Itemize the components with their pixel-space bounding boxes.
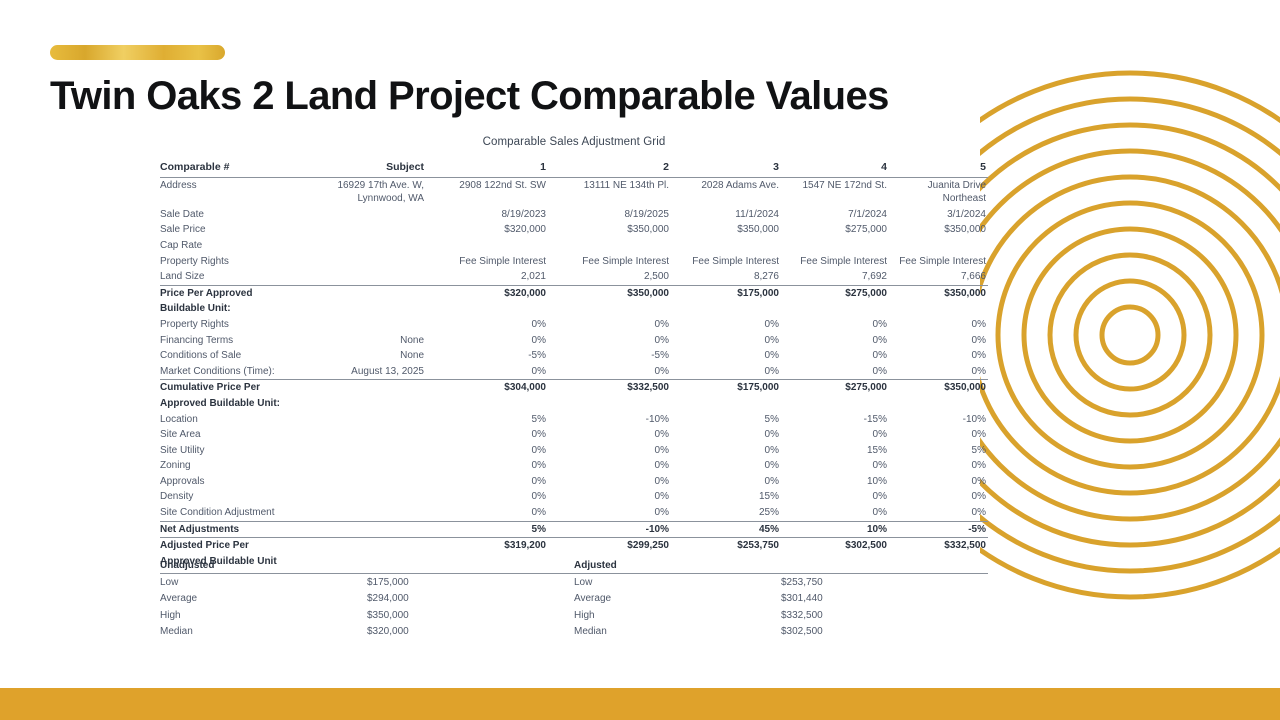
column-header-subject: Subject <box>308 160 426 177</box>
row-value-1: 8/19/2023 <box>426 207 548 223</box>
concentric-rings-graphic <box>980 35 1280 635</box>
table-row: Zoning 0% 0% 0% 0% 0% <box>160 458 988 474</box>
row-value-5: $350,000 <box>889 285 988 301</box>
row-value-5: 0% <box>889 333 988 349</box>
row-label: Adjusted Price Per <box>160 538 308 554</box>
stat-value: $253,750 <box>781 574 988 591</box>
row-value-5: 0% <box>889 427 988 443</box>
row-value-subject <box>308 254 426 270</box>
table-row: Cap Rate <box>160 238 988 254</box>
net-adjustments-row: Net Adjustments 5% -10% 45% 10% -5% <box>160 521 988 538</box>
row-value-3: 2028 Adams Ave. <box>671 177 781 207</box>
row-value-2: 0% <box>548 317 671 333</box>
row-label: Sale Price <box>160 222 308 238</box>
row-value-3: 0% <box>671 364 781 380</box>
row-label: Zoning <box>160 458 308 474</box>
row-value-1: 0% <box>426 317 548 333</box>
row-value-subject <box>308 269 426 285</box>
spacer-cell <box>426 396 548 412</box>
row-value-5: 0% <box>889 505 988 521</box>
row-value-4: $275,000 <box>781 285 889 301</box>
table-header-row: Comparable # Subject 1 2 3 4 5 <box>160 160 988 177</box>
row-value-4: 7/1/2024 <box>781 207 889 223</box>
cumulative-price-row: Cumulative Price Per $304,000 $332,500 $… <box>160 380 988 396</box>
list-item: Average $301,440 <box>574 591 988 608</box>
row-value-5: -10% <box>889 412 988 428</box>
spacer-cell <box>889 301 988 317</box>
row-value-3: 0% <box>671 474 781 490</box>
row-value-3: $175,000 <box>671 285 781 301</box>
row-value-3: 0% <box>671 333 781 349</box>
row-label-line2: Approved Buildable Unit: <box>160 396 308 412</box>
row-value-subject <box>308 427 426 443</box>
row-value-4: 0% <box>781 333 889 349</box>
stat-label: Median <box>160 624 367 641</box>
table-row: Site Utility 0% 0% 0% 15% 5% <box>160 443 988 459</box>
row-label: Address <box>160 177 308 207</box>
list-item: Average $294,000 <box>160 591 574 608</box>
row-value-2: $299,250 <box>548 538 671 554</box>
row-value-3: 15% <box>671 489 781 505</box>
row-value-subject <box>308 222 426 238</box>
row-value-1: Fee Simple Interest <box>426 254 548 270</box>
row-value-2: 0% <box>548 427 671 443</box>
row-value-4: 0% <box>781 364 889 380</box>
row-value-3: 8,276 <box>671 269 781 285</box>
row-value-subject <box>308 238 426 254</box>
row-label-line2: Buildable Unit: <box>160 301 308 317</box>
row-value-5: -5% <box>889 521 988 538</box>
spacer-cell <box>671 301 781 317</box>
grid-title: Comparable Sales Adjustment Grid <box>160 136 988 148</box>
adjustment-grid-table: Comparable # Subject 1 2 3 4 5 Address 1… <box>160 160 988 569</box>
stat-value: $294,000 <box>367 591 574 608</box>
table-row: Sale Date 8/19/2023 8/19/2025 11/1/2024 … <box>160 207 988 223</box>
row-value-5 <box>889 238 988 254</box>
row-value-2: -10% <box>548 412 671 428</box>
address-line-1: 2908 122nd St. SW <box>426 179 546 193</box>
row-value-1: 5% <box>426 521 548 538</box>
row-value-2: -10% <box>548 521 671 538</box>
stat-label: High <box>574 607 781 624</box>
table-row: Market Conditions (Time): August 13, 202… <box>160 364 988 380</box>
row-value-2: 0% <box>548 505 671 521</box>
row-value-5: 5% <box>889 443 988 459</box>
column-header-label: Comparable # <box>160 160 308 177</box>
row-value-1: 0% <box>426 427 548 443</box>
stat-label: Low <box>574 574 781 591</box>
stat-value: $175,000 <box>367 574 574 591</box>
row-label: Financing Terms <box>160 333 308 349</box>
row-label: Site Condition Adjustment <box>160 505 308 521</box>
row-value-subject <box>308 489 426 505</box>
stat-label: Low <box>160 574 367 591</box>
row-value-5: $350,000 <box>889 222 988 238</box>
row-value-4: 10% <box>781 474 889 490</box>
address-line-1: 2028 Adams Ave. <box>671 179 779 193</box>
stat-value: $302,500 <box>781 624 988 641</box>
row-value-1: 0% <box>426 364 548 380</box>
adjusted-heading: Adjusted <box>574 560 988 574</box>
column-header-2: 2 <box>548 160 671 177</box>
stat-value: $301,440 <box>781 591 988 608</box>
row-value-5: Fee Simple Interest <box>889 254 988 270</box>
adjusted-price-row: Adjusted Price Per $319,200 $299,250 $25… <box>160 538 988 554</box>
row-label: Cumulative Price Per <box>160 380 308 396</box>
row-label: Site Utility <box>160 443 308 459</box>
row-label: Location <box>160 412 308 428</box>
row-value-1: 0% <box>426 458 548 474</box>
page-title: Twin Oaks 2 Land Project Comparable Valu… <box>50 74 889 119</box>
row-value-2: 0% <box>548 458 671 474</box>
row-value-subject <box>308 207 426 223</box>
address-line-2: Lynnwood, WA <box>308 192 424 206</box>
table-row: Approvals 0% 0% 0% 10% 0% <box>160 474 988 490</box>
row-value-1: 5% <box>426 412 548 428</box>
row-label: Property Rights <box>160 254 308 270</box>
row-value-1 <box>426 238 548 254</box>
row-value-4: 0% <box>781 505 889 521</box>
row-label: Site Area <box>160 427 308 443</box>
row-label: Price Per Approved <box>160 285 308 301</box>
price-per-approved-row: Price Per Approved $320,000 $350,000 $17… <box>160 285 988 301</box>
table-row: Financing Terms None 0% 0% 0% 0% 0% <box>160 333 988 349</box>
column-header-3: 3 <box>671 160 781 177</box>
list-item: Low $175,000 <box>160 574 574 591</box>
row-value-2: 2,500 <box>548 269 671 285</box>
value-summary: Unadjusted Low $175,000 Average $294,000… <box>160 560 988 640</box>
row-value-3: 0% <box>671 443 781 459</box>
row-value-3: 45% <box>671 521 781 538</box>
address-line-1: 16929 17th Ave. W, <box>308 179 424 193</box>
row-value-5: $350,000 <box>889 380 988 396</box>
row-value-subject: None <box>308 348 426 364</box>
row-value-4: 7,692 <box>781 269 889 285</box>
stat-label: Average <box>160 591 367 608</box>
row-value-2: 0% <box>548 443 671 459</box>
table-row: Land Size 2,021 2,500 8,276 7,692 7,666 <box>160 269 988 285</box>
row-value-1: $304,000 <box>426 380 548 396</box>
row-value-1: 2908 122nd St. SW <box>426 177 548 207</box>
row-label: Property Rights <box>160 317 308 333</box>
list-item: High $332,500 <box>574 607 988 624</box>
row-value-2: 0% <box>548 333 671 349</box>
row-value-4: Fee Simple Interest <box>781 254 889 270</box>
row-value-5: 7,666 <box>889 269 988 285</box>
row-value-1: 2,021 <box>426 269 548 285</box>
spacer-cell <box>548 301 671 317</box>
row-value-3: 0% <box>671 348 781 364</box>
price-per-approved-row-line2: Buildable Unit: <box>160 301 988 317</box>
row-value-3: $175,000 <box>671 380 781 396</box>
row-label: Net Adjustments <box>160 521 308 538</box>
row-value-3: 25% <box>671 505 781 521</box>
decorative-rings <box>980 0 1280 720</box>
row-value-3: 11/1/2024 <box>671 207 781 223</box>
table-row: Location 5% -10% 5% -15% -10% <box>160 412 988 428</box>
row-value-subject: None <box>308 333 426 349</box>
row-value-4: 0% <box>781 489 889 505</box>
row-value-5: 0% <box>889 364 988 380</box>
spacer-cell <box>889 396 988 412</box>
row-value-5: Juanita Drive Northeast <box>889 177 988 207</box>
row-value-subject <box>308 474 426 490</box>
address-line-1: 13111 NE 134th Pl. <box>548 179 669 193</box>
adjusted-table: Low $253,750 Average $301,440 High $332,… <box>574 574 988 640</box>
row-value-subject <box>308 521 426 538</box>
table-row: Site Condition Adjustment 0% 0% 25% 0% 0… <box>160 505 988 521</box>
row-value-4: -15% <box>781 412 889 428</box>
spacer-cell <box>426 301 548 317</box>
row-value-5: 0% <box>889 458 988 474</box>
list-item: Median $320,000 <box>160 624 574 641</box>
row-value-5: 0% <box>889 317 988 333</box>
row-value-2: 8/19/2025 <box>548 207 671 223</box>
address-line-2: Northeast <box>889 192 986 206</box>
stat-label: High <box>160 607 367 624</box>
row-value-1: 0% <box>426 333 548 349</box>
row-value-3: 5% <box>671 412 781 428</box>
row-value-subject: 16929 17th Ave. W, Lynnwood, WA <box>308 177 426 207</box>
row-value-5: 0% <box>889 474 988 490</box>
row-value-2: $350,000 <box>548 285 671 301</box>
row-value-1: 0% <box>426 505 548 521</box>
stat-label: Median <box>574 624 781 641</box>
row-value-2: $350,000 <box>548 222 671 238</box>
row-value-4: $275,000 <box>781 222 889 238</box>
comparable-sales-grid: Comparable Sales Adjustment Grid Compara… <box>160 136 988 569</box>
row-value-subject <box>308 412 426 428</box>
row-value-2: 0% <box>548 474 671 490</box>
row-value-subject <box>308 317 426 333</box>
spacer-cell <box>671 396 781 412</box>
row-value-4: 15% <box>781 443 889 459</box>
row-value-4: 1547 NE 172nd St. <box>781 177 889 207</box>
row-value-2: 0% <box>548 364 671 380</box>
row-value-1: -5% <box>426 348 548 364</box>
unadjusted-heading: Unadjusted <box>160 560 574 574</box>
stat-value: $320,000 <box>367 624 574 641</box>
column-header-5: 5 <box>889 160 988 177</box>
row-value-4 <box>781 238 889 254</box>
table-row: Address 16929 17th Ave. W, Lynnwood, WA … <box>160 177 988 207</box>
row-value-1: 0% <box>426 489 548 505</box>
list-item: Median $302,500 <box>574 624 988 641</box>
row-value-subject <box>308 380 426 396</box>
row-value-5: 3/1/2024 <box>889 207 988 223</box>
row-label: Sale Date <box>160 207 308 223</box>
row-label: Conditions of Sale <box>160 348 308 364</box>
row-value-5: 0% <box>889 348 988 364</box>
table-row: Density 0% 0% 15% 0% 0% <box>160 489 988 505</box>
row-label: Land Size <box>160 269 308 285</box>
row-value-4: 0% <box>781 427 889 443</box>
row-value-2: 13111 NE 134th Pl. <box>548 177 671 207</box>
table-row: Site Area 0% 0% 0% 0% 0% <box>160 427 988 443</box>
spacer-cell <box>781 396 889 412</box>
row-label: Cap Rate <box>160 238 308 254</box>
row-value-1: $320,000 <box>426 222 548 238</box>
row-value-3: 0% <box>671 458 781 474</box>
row-value-3: 0% <box>671 317 781 333</box>
row-value-2: $332,500 <box>548 380 671 396</box>
stat-value: $350,000 <box>367 607 574 624</box>
unadjusted-summary: Unadjusted Low $175,000 Average $294,000… <box>160 560 574 640</box>
table-row: Property Rights Fee Simple Interest Fee … <box>160 254 988 270</box>
address-line-1: 1547 NE 172nd St. <box>781 179 887 193</box>
row-label: Approvals <box>160 474 308 490</box>
row-value-3: Fee Simple Interest <box>671 254 781 270</box>
confidentiality-notice: Confidential. LIONSCOVE document not to … <box>964 0 1266 32</box>
row-value-3: $253,750 <box>671 538 781 554</box>
row-value-5: 0% <box>889 489 988 505</box>
column-header-4: 4 <box>781 160 889 177</box>
row-value-4: $302,500 <box>781 538 889 554</box>
column-header-1: 1 <box>426 160 548 177</box>
row-value-subject <box>308 505 426 521</box>
row-label: Density <box>160 489 308 505</box>
row-value-2: 0% <box>548 489 671 505</box>
row-value-1: $320,000 <box>426 285 548 301</box>
row-value-1: $319,200 <box>426 538 548 554</box>
row-value-2: Fee Simple Interest <box>548 254 671 270</box>
spacer-cell <box>308 301 426 317</box>
row-value-4: $275,000 <box>781 380 889 396</box>
row-value-subject <box>308 443 426 459</box>
table-row: Conditions of Sale None -5% -5% 0% 0% 0% <box>160 348 988 364</box>
title-accent-bar <box>50 45 225 60</box>
spacer-cell <box>308 396 426 412</box>
row-value-subject: August 13, 2025 <box>308 364 426 380</box>
cumulative-price-row-line2: Approved Buildable Unit: <box>160 396 988 412</box>
row-label: Market Conditions (Time): <box>160 364 308 380</box>
row-value-2: -5% <box>548 348 671 364</box>
stat-value: $332,500 <box>781 607 988 624</box>
table-row: Sale Price $320,000 $350,000 $350,000 $2… <box>160 222 988 238</box>
stat-label: Average <box>574 591 781 608</box>
row-value-1: 0% <box>426 443 548 459</box>
unadjusted-table: Low $175,000 Average $294,000 High $350,… <box>160 574 574 640</box>
row-value-subject <box>308 538 426 554</box>
row-value-1: 0% <box>426 474 548 490</box>
row-value-3: 0% <box>671 427 781 443</box>
row-value-4: 0% <box>781 348 889 364</box>
table-row: Property Rights 0% 0% 0% 0% 0% <box>160 317 988 333</box>
list-item: Low $253,750 <box>574 574 988 591</box>
list-item: High $350,000 <box>160 607 574 624</box>
row-value-subject <box>308 285 426 301</box>
row-value-4: 10% <box>781 521 889 538</box>
row-value-3 <box>671 238 781 254</box>
footer-bar <box>0 688 1280 720</box>
address-line-1: Juanita Drive <box>889 179 986 193</box>
spacer-cell <box>548 396 671 412</box>
spacer-cell <box>781 301 889 317</box>
row-value-2 <box>548 238 671 254</box>
row-value-3: $350,000 <box>671 222 781 238</box>
row-value-4: 0% <box>781 458 889 474</box>
row-value-subject <box>308 458 426 474</box>
row-value-5: $332,500 <box>889 538 988 554</box>
adjusted-summary: Adjusted Low $253,750 Average $301,440 H… <box>574 560 988 640</box>
row-value-4: 0% <box>781 317 889 333</box>
